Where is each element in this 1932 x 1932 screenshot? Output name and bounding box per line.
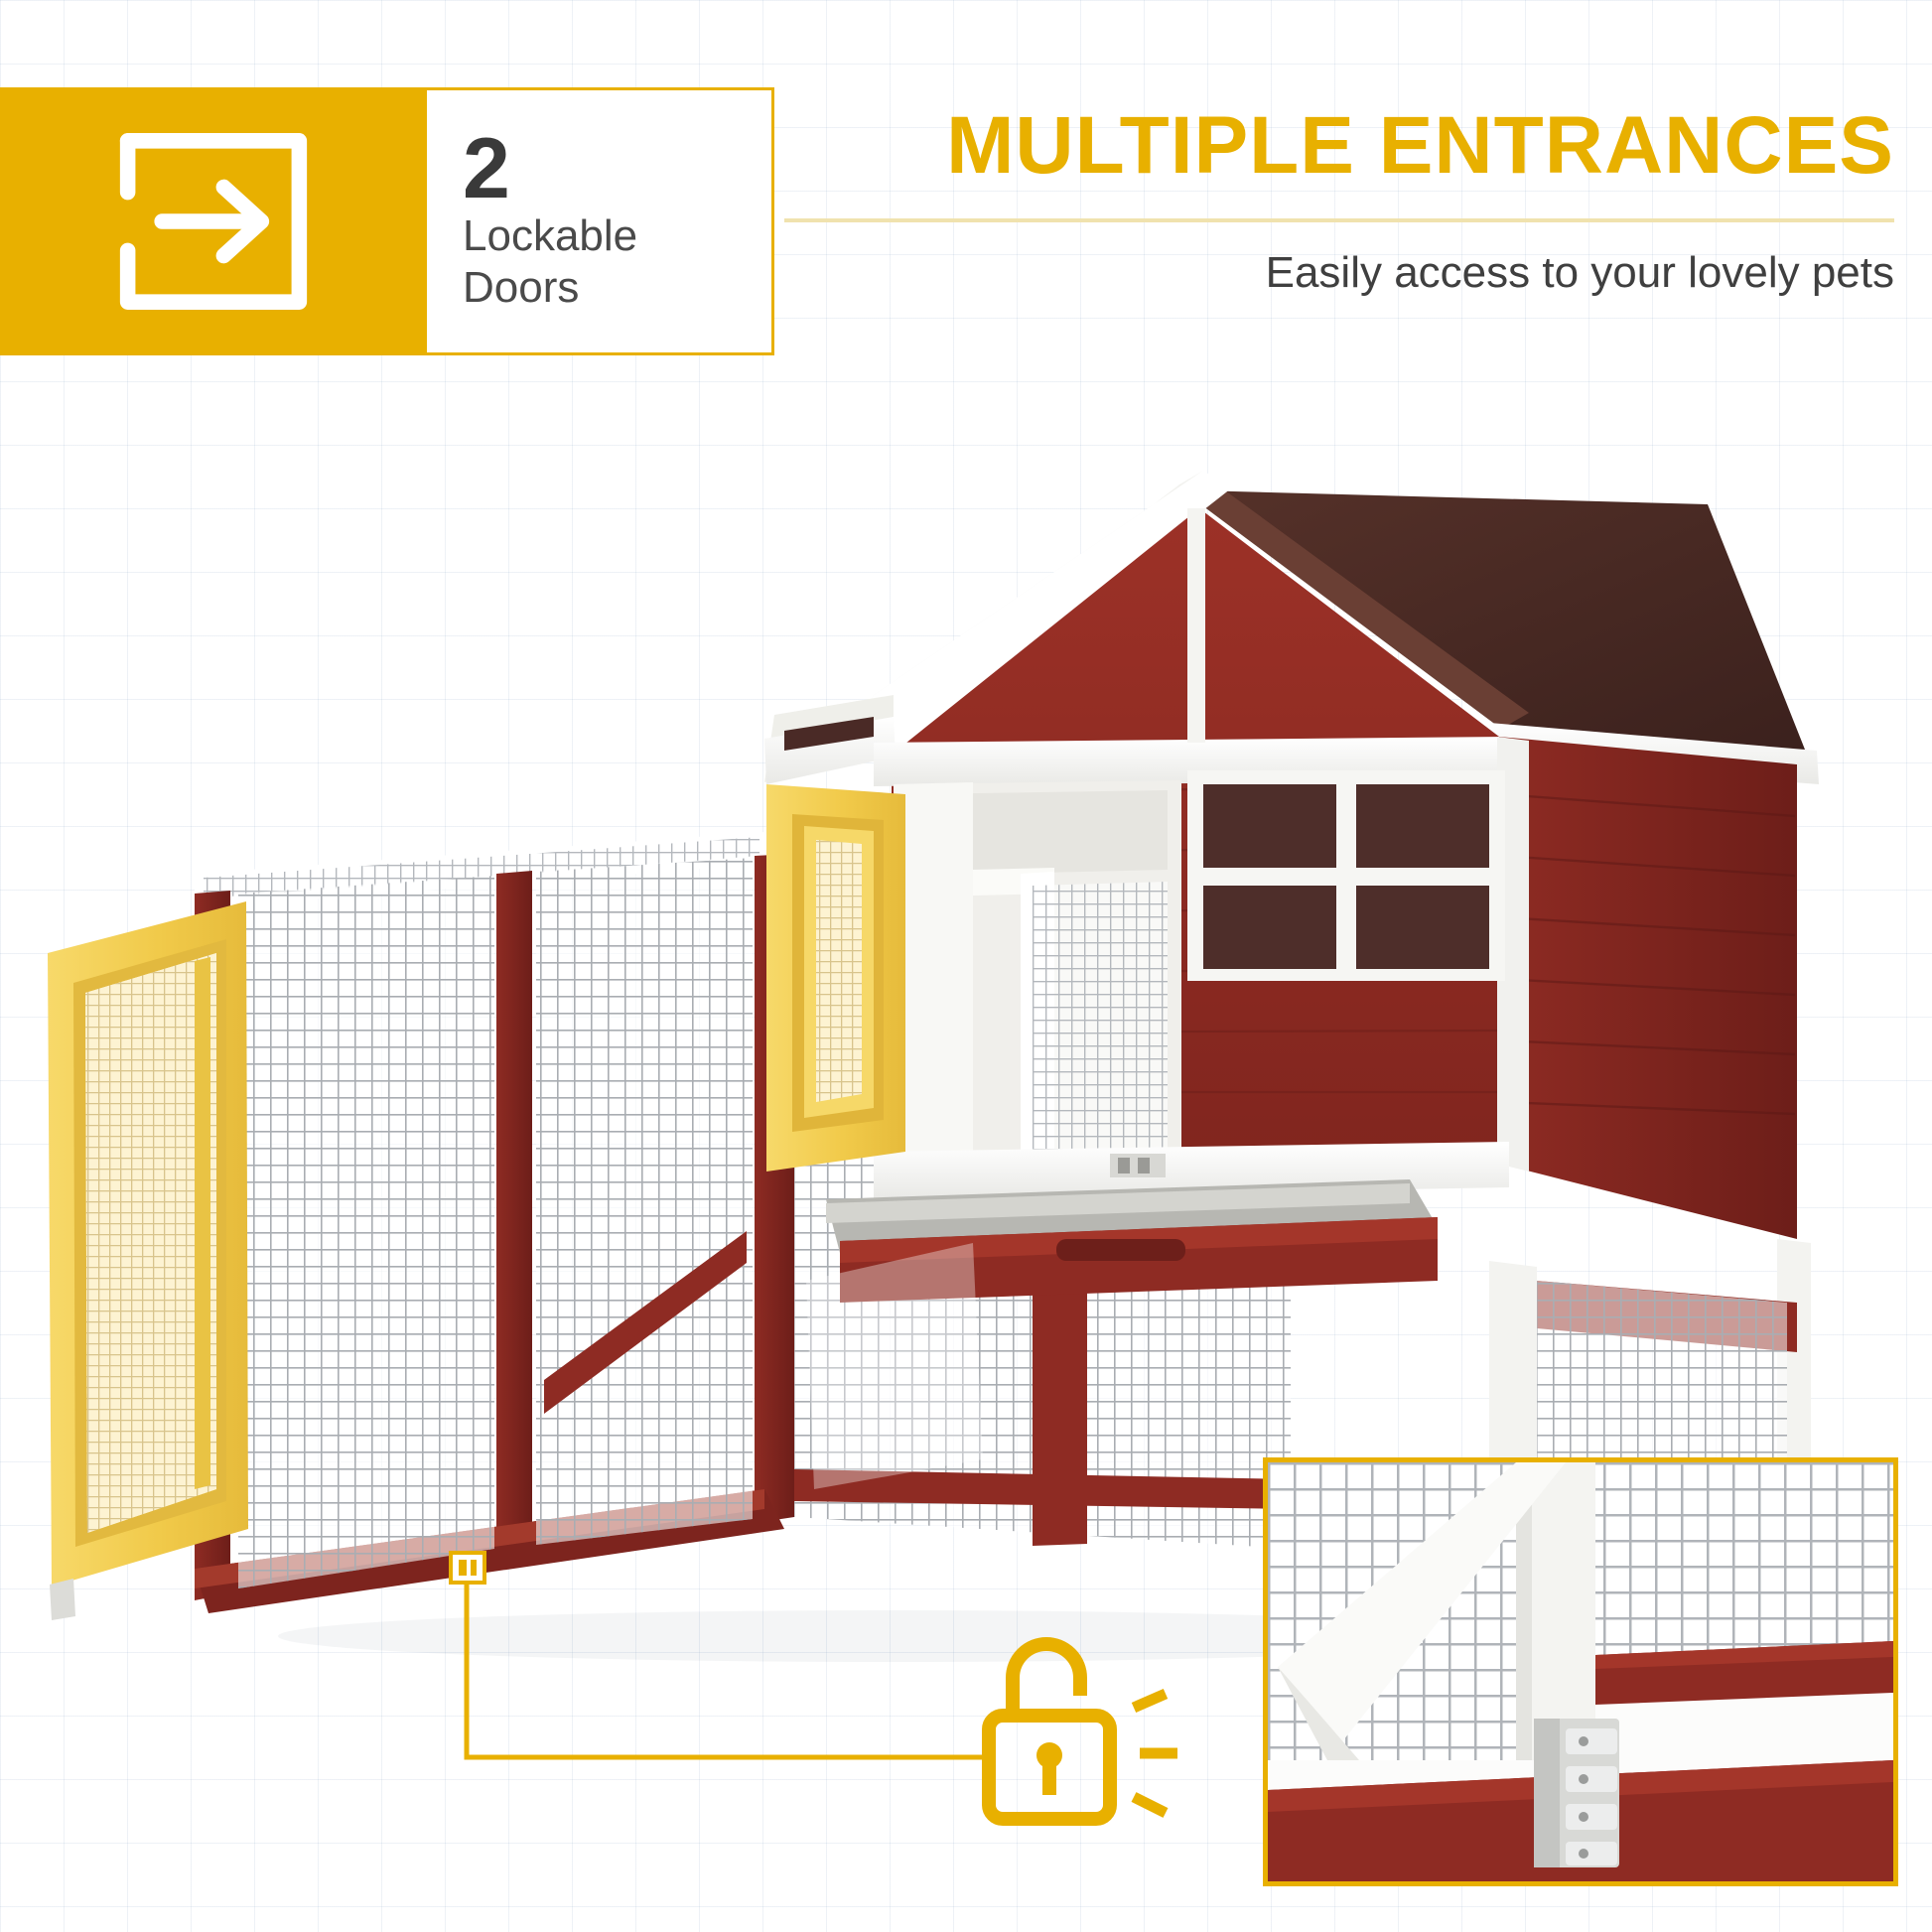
run-mesh-left (238, 876, 494, 1588)
badge-line-2: Doors (463, 262, 579, 314)
hinge-marker (451, 1553, 484, 1583)
lock-callout (427, 1529, 1221, 1886)
run-mesh-right (536, 858, 753, 1545)
upper-house-side (1497, 737, 1797, 1239)
metal-hinges (1534, 1719, 1619, 1867)
house-doorway-opening (894, 780, 1181, 1181)
badge-icon-area (0, 87, 427, 355)
hinge-detail-inset (1263, 1457, 1898, 1886)
badge-text-area: 2 Lockable Doors (427, 87, 774, 355)
yellow-lockable-side-door (48, 901, 248, 1620)
badge-line-1: Lockable (463, 210, 637, 262)
badge-number: 2 (463, 129, 510, 210)
headline-block: MULTIPLE ENTRANCES Easily access to your… (784, 99, 1894, 298)
page-title: MULTIPLE ENTRANCES (784, 99, 1894, 193)
access-ramp (806, 1243, 983, 1489)
divider (784, 218, 1894, 222)
door-enter-arrow-icon (110, 127, 317, 316)
feature-badge: 2 Lockable Doors (0, 87, 774, 355)
page-subtitle: Easily access to your lovely pets (784, 248, 1894, 298)
yellow-lockable-front-door (766, 784, 905, 1172)
open-padlock-icon (989, 1644, 1177, 1819)
upper-house-window (1187, 770, 1505, 981)
